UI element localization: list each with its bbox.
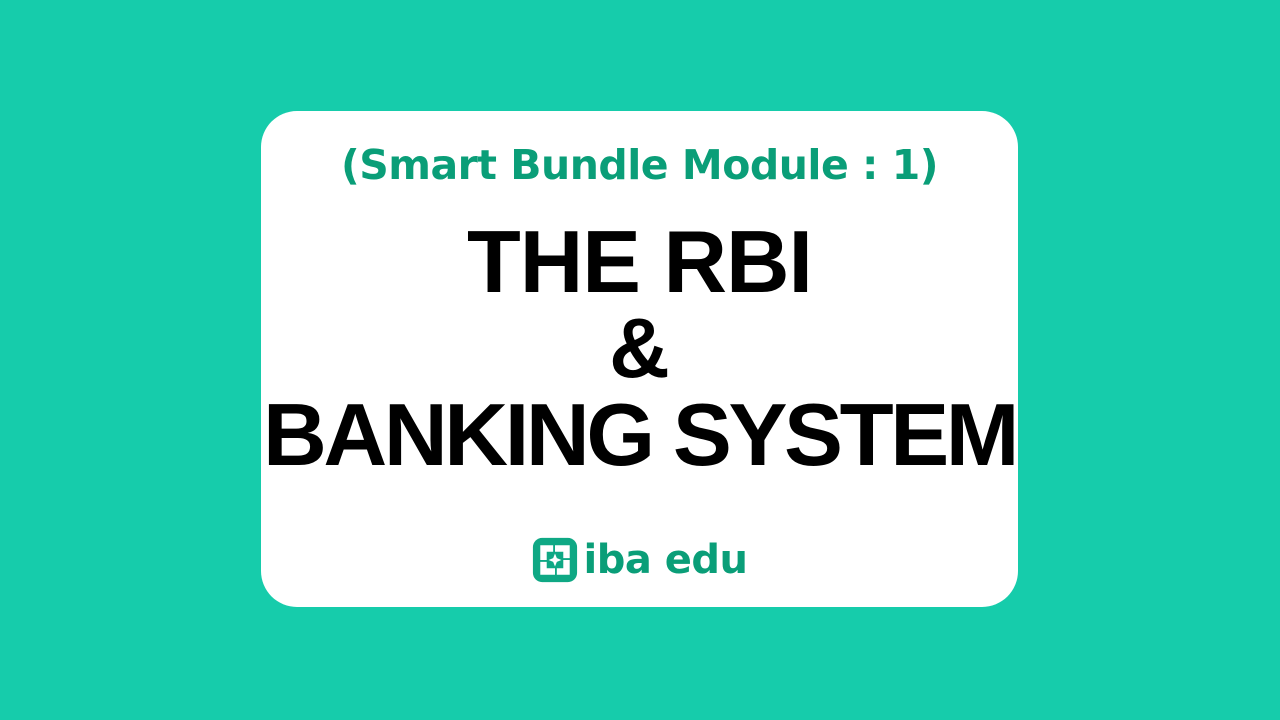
brand-lockup: iba edu	[261, 535, 1018, 585]
title-card: (Smart Bundle Module : 1) THE RBI & BANK…	[261, 111, 1018, 607]
heading-line-banking-system: BANKING SYSTEM	[259, 392, 1020, 478]
heading-line-ampersand: &	[261, 307, 1018, 389]
main-heading: THE RBI & BANKING SYSTEM	[261, 219, 1018, 478]
brand-wordmark: iba edu	[584, 540, 748, 580]
slide-root: (Smart Bundle Module : 1) THE RBI & BANK…	[0, 0, 1280, 720]
heading-line-the-rbi: THE RBI	[261, 219, 1018, 305]
iba-pinwheel-logo-icon	[532, 535, 578, 585]
module-subtitle: (Smart Bundle Module : 1)	[261, 145, 1018, 186]
